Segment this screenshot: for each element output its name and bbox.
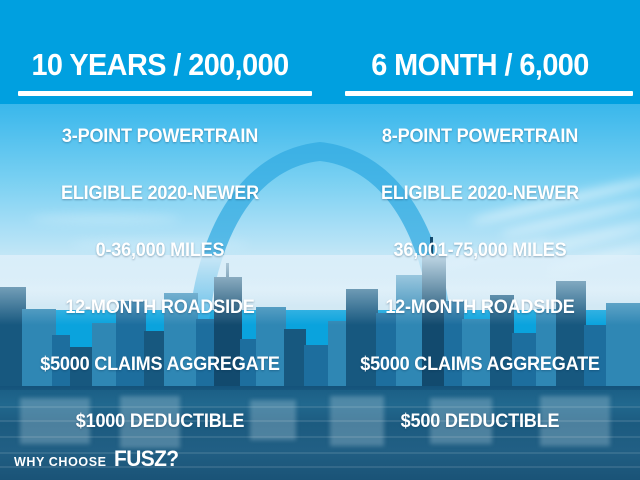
feature-item: 3-POINT POWERTRAIN [8, 108, 312, 165]
content-layer: 10 YEARS / 200,000 3-POINT POWERTRAIN EL… [0, 0, 640, 480]
feature-item: 12-MONTH ROADSIDE [8, 279, 312, 336]
footer-brand-name: FUSZ? [114, 446, 178, 472]
feature-item: ELIGIBLE 2020-NEWER [328, 165, 632, 222]
promo-graphic: 10 YEARS / 200,000 3-POINT POWERTRAIN EL… [0, 0, 640, 480]
headline-underline-left [18, 91, 312, 96]
plan-column-six-month: 6 MONTH / 6,000 8-POINT POWERTRAIN ELIGI… [320, 0, 640, 480]
feature-item: $1000 DEDUCTIBLE [8, 393, 312, 450]
footer-branding: WHY CHOOSE FUSZ? [14, 446, 181, 472]
headline-underline-right [345, 91, 633, 96]
feature-item: 8-POINT POWERTRAIN [328, 108, 632, 165]
feature-item: $5000 CLAIMS AGGREGATE [8, 336, 312, 393]
feature-list-left: 3-POINT POWERTRAIN ELIGIBLE 2020-NEWER 0… [0, 108, 320, 450]
plan-headline-left: 10 YEARS / 200,000 [11, 47, 309, 83]
plan-column-ten-year: 10 YEARS / 200,000 3-POINT POWERTRAIN EL… [0, 0, 320, 480]
feature-list-right: 8-POINT POWERTRAIN ELIGIBLE 2020-NEWER 3… [320, 108, 640, 450]
feature-item: $5000 CLAIMS AGGREGATE [328, 336, 632, 393]
feature-item: 0-36,000 MILES [8, 222, 312, 279]
feature-item: 36,001-75,000 MILES [328, 222, 632, 279]
feature-item: ELIGIBLE 2020-NEWER [8, 165, 312, 222]
feature-item: $500 DEDUCTIBLE [328, 393, 632, 450]
plan-headline-right: 6 MONTH / 6,000 [331, 47, 629, 83]
footer-prefix: WHY CHOOSE [14, 455, 107, 469]
feature-item: 12-MONTH ROADSIDE [328, 279, 632, 336]
